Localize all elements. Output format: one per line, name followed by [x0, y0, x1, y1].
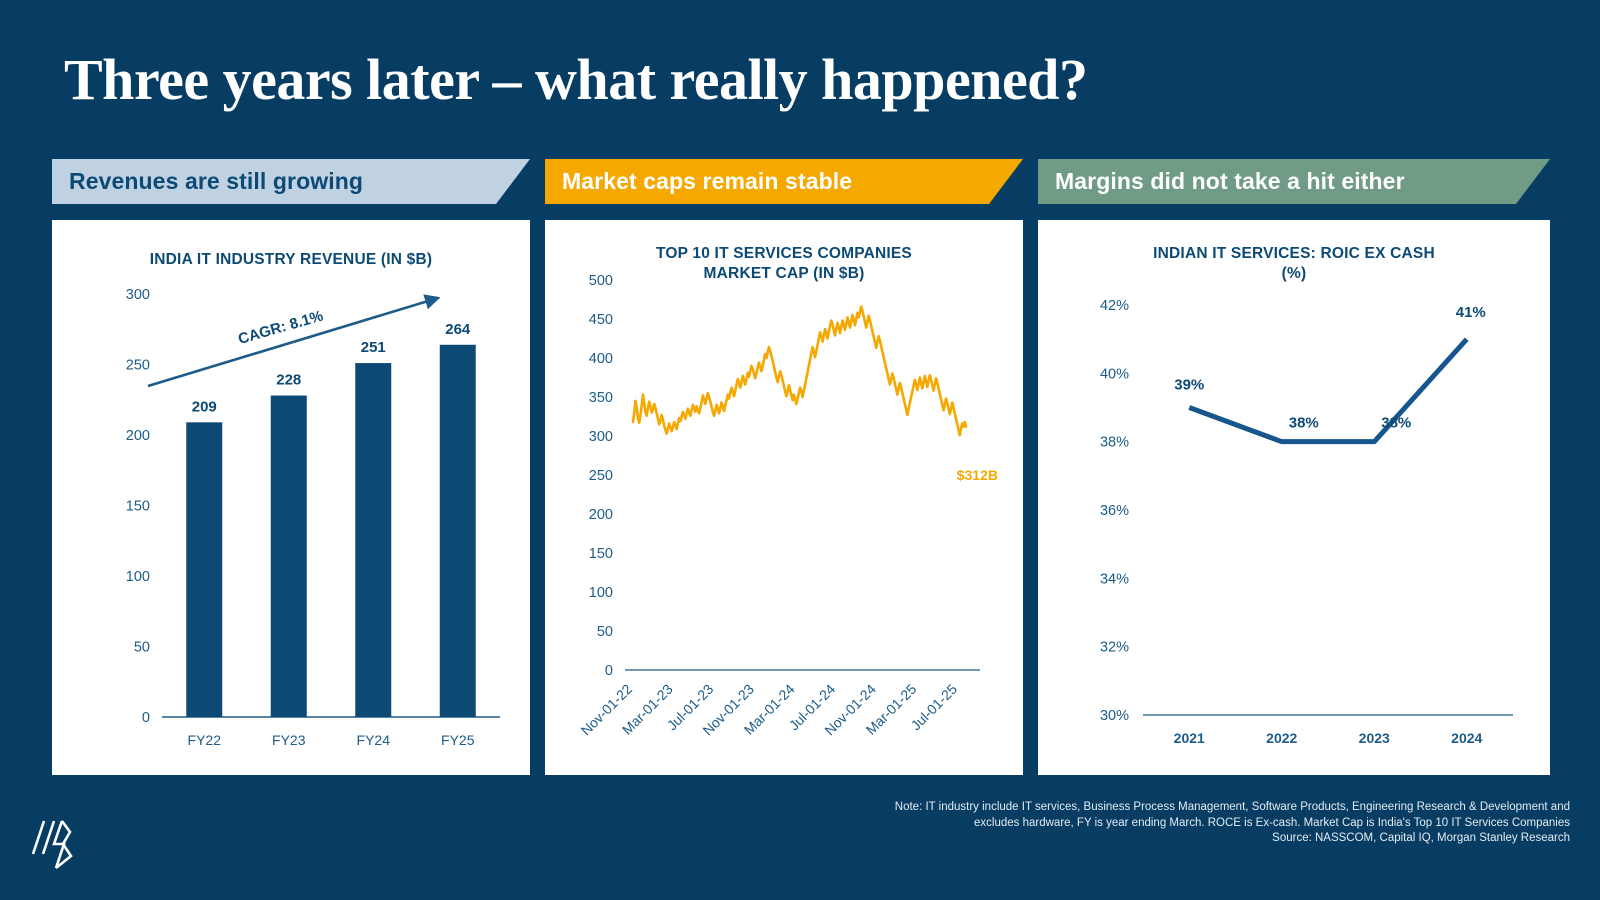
- line-chart-marketcap: 050100150200250300350400450500$312BNov-0…: [545, 220, 1023, 775]
- bar: [271, 396, 307, 717]
- mcap-ytick-label: 150: [589, 546, 613, 562]
- roic-ytick-label: 32%: [1100, 640, 1129, 656]
- bar-value-label: 264: [445, 321, 471, 338]
- bar-ytick-label: 250: [126, 358, 150, 374]
- bar-ytick-label: 50: [134, 640, 150, 656]
- roic-xtick-label: 2021: [1174, 730, 1205, 746]
- mcap-ytick-label: 400: [589, 351, 613, 367]
- roic-value-label: 41%: [1456, 304, 1486, 321]
- line-chart-roic: 30%32%34%36%38%40%42%39%202138%202238%20…: [1038, 220, 1550, 775]
- bar-value-label: 209: [192, 398, 217, 415]
- bar-ytick-label: 200: [126, 428, 150, 444]
- bar-ytick-label: 300: [126, 287, 150, 303]
- footnote: Note: IT industry include IT services, B…: [870, 800, 1570, 847]
- bar-xtick-label: FY25: [441, 732, 475, 748]
- footnote-line-2: excludes hardware, FY is year ending Mar…: [870, 816, 1570, 832]
- roic-xtick-label: 2022: [1266, 730, 1297, 746]
- mcap-ytick-label: 350: [589, 390, 613, 406]
- roic-value-label: 38%: [1289, 415, 1319, 432]
- mcap-ytick-label: 250: [589, 468, 613, 484]
- roic-xtick-label: 2023: [1359, 730, 1390, 746]
- bar-ytick-label: 0: [142, 710, 150, 726]
- bar-value-label: 228: [276, 372, 301, 389]
- roic-value-label: 38%: [1381, 415, 1411, 432]
- banner-market-caps-label: Market caps remain stable: [545, 168, 852, 195]
- bar: [355, 363, 391, 717]
- bar-chart-revenue: 050100150200250300209FY22228FY23251FY242…: [52, 220, 530, 775]
- mcap-ytick-label: 300: [589, 429, 613, 445]
- brand-logo-icon: [30, 818, 92, 874]
- bar-ytick-label: 150: [126, 499, 150, 515]
- mcap-ytick-label: 50: [597, 624, 613, 640]
- banner-margins: Margins did not take a hit either: [1038, 159, 1550, 204]
- footnote-line-1: Note: IT industry include IT services, B…: [870, 800, 1570, 816]
- page-title: Three years later – what really happened…: [64, 46, 1087, 113]
- bar: [440, 345, 476, 717]
- mcap-ytick-label: 0: [605, 663, 613, 679]
- bar-xtick-label: FY24: [357, 732, 391, 748]
- card-marketcap-chart: TOP 10 IT SERVICES COMPANIES MARKET CAP …: [545, 220, 1023, 775]
- roic-ytick-label: 38%: [1100, 435, 1129, 451]
- mcap-ytick-label: 100: [589, 585, 613, 601]
- roic-xtick-label: 2024: [1451, 730, 1482, 746]
- card-roic-chart: INDIAN IT SERVICES: ROIC EX CASH (%) 30%…: [1038, 220, 1550, 775]
- banner-market-caps: Market caps remain stable: [545, 159, 1023, 204]
- roic-ytick-label: 34%: [1100, 571, 1129, 587]
- footnote-line-3: Source: NASSCOM, Capital IQ, Morgan Stan…: [870, 831, 1570, 847]
- roic-ytick-label: 36%: [1100, 503, 1129, 519]
- mcap-ytick-label: 500: [589, 273, 613, 289]
- bar-value-label: 251: [361, 339, 386, 356]
- mcap-series-line: [633, 307, 966, 436]
- banner-margins-label: Margins did not take a hit either: [1038, 168, 1405, 195]
- card-revenue-chart: INDIA IT INDUSTRY REVENUE (IN $B) 050100…: [52, 220, 530, 775]
- bar: [186, 422, 222, 717]
- mcap-end-label: $312B: [957, 467, 998, 483]
- bar-xtick-label: FY22: [188, 732, 222, 748]
- roic-ytick-label: 30%: [1100, 708, 1129, 724]
- bar-xtick-label: FY23: [272, 732, 306, 748]
- banner-revenues: Revenues are still growing: [52, 159, 530, 204]
- mcap-ytick-label: 200: [589, 507, 613, 523]
- bar-ytick-label: 100: [126, 569, 150, 585]
- slide-root: Three years later – what really happened…: [0, 0, 1600, 900]
- roic-value-label: 39%: [1174, 377, 1204, 394]
- cagr-annotation: CAGR: 8.1%: [236, 307, 325, 347]
- roic-ytick-label: 42%: [1100, 298, 1129, 314]
- roic-series-line: [1189, 339, 1467, 442]
- banner-revenues-label: Revenues are still growing: [52, 168, 363, 195]
- mcap-ytick-label: 450: [589, 312, 613, 328]
- roic-ytick-label: 40%: [1100, 366, 1129, 382]
